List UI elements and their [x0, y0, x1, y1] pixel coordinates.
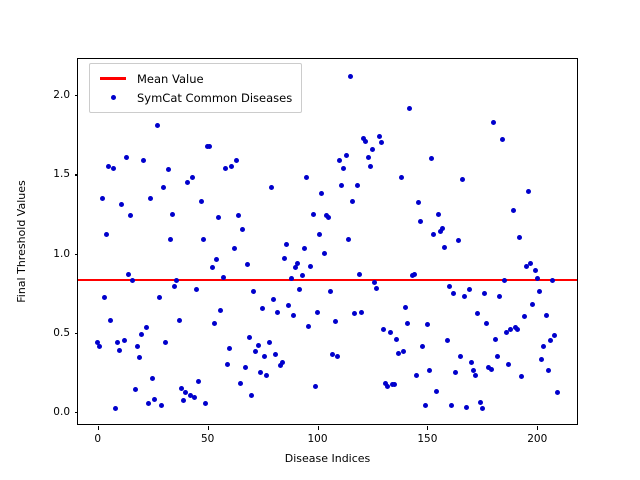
scatter-point [223, 166, 228, 171]
scatter-point [475, 311, 480, 316]
scatter-point [194, 287, 199, 292]
scatter-point [374, 286, 379, 291]
scatter-point [111, 166, 116, 171]
x-tick-label: 100 [307, 433, 327, 445]
scatter-point [177, 318, 182, 323]
scatter-point [267, 340, 272, 345]
scatter-point [533, 268, 538, 273]
scatter-point [451, 291, 456, 296]
scatter-point [363, 139, 368, 144]
scatter-point [148, 196, 153, 201]
scatter-point [199, 199, 204, 204]
scatter-point [161, 185, 166, 190]
y-tick-mark [75, 333, 79, 334]
scatter-point [122, 338, 127, 343]
scatter-point [152, 397, 157, 402]
x-tick-mark [318, 426, 319, 430]
scatter-point [317, 232, 322, 237]
scatter-point [366, 155, 371, 160]
scatter-point [216, 215, 221, 220]
scatter-point [493, 337, 498, 342]
scatter-point [407, 106, 412, 111]
scatter-point [372, 280, 377, 285]
scatter-point [394, 337, 399, 342]
scatter-point [232, 246, 237, 251]
scatter-point [420, 344, 425, 349]
scatter-point [282, 256, 287, 261]
scatter-point [423, 403, 428, 408]
scatter-point [249, 393, 254, 398]
scatter-point [280, 360, 285, 365]
y-tick-mark [75, 412, 79, 413]
scatter-point [392, 382, 397, 387]
scatter-point [429, 156, 434, 161]
scatter-point [333, 319, 338, 324]
scatter-point [418, 219, 423, 224]
scatter-point [247, 335, 252, 340]
y-tick-mark [75, 174, 79, 175]
scatter-point [357, 272, 362, 277]
plot-area: Mean Value SymCat Common Diseases 050100… [77, 58, 578, 425]
scatter-point [144, 325, 149, 330]
scatter-point [214, 257, 219, 262]
y-tick-mark [75, 95, 79, 96]
scatter-point [293, 265, 298, 270]
scatter-point [135, 344, 140, 349]
scatter-point [322, 251, 327, 256]
y-tick-label: 0.5 [53, 327, 70, 339]
scatter-point [157, 295, 162, 300]
scatter-point [115, 340, 120, 345]
scatter-point [355, 183, 360, 188]
scatter-point [196, 379, 201, 384]
scatter-point [139, 332, 144, 337]
scatter-point [221, 275, 226, 280]
scatter-point [256, 343, 261, 348]
scatter-point [326, 215, 331, 220]
scatter-point [271, 297, 276, 302]
scatter-point [275, 310, 280, 315]
scatter-point [207, 144, 212, 149]
scatter-point [464, 405, 469, 410]
legend-label-symcat: SymCat Common Diseases [137, 91, 292, 105]
legend-label-mean-value: Mean Value [137, 72, 204, 86]
scatter-point [500, 137, 505, 142]
scatter-point [401, 349, 406, 354]
scatter-point [539, 357, 544, 362]
scatter-point [243, 365, 248, 370]
scatter-point [212, 321, 217, 326]
scatter-point [469, 360, 474, 365]
scatter-point [460, 177, 465, 182]
x-tick-mark [208, 426, 209, 430]
scatter-point [210, 265, 215, 270]
scatter-point [258, 370, 263, 375]
scatter-point [128, 213, 133, 218]
x-tick-label: 150 [417, 433, 437, 445]
scatter-point [414, 373, 419, 378]
scatter-point [359, 310, 364, 315]
scatter-point [104, 232, 109, 237]
scatter-point [544, 313, 549, 318]
scatter-point [315, 310, 320, 315]
scatter-point [168, 237, 173, 242]
scatter-point [295, 261, 300, 266]
scatter-point [308, 264, 313, 269]
scatter-point [304, 175, 309, 180]
scatter-point [300, 273, 305, 278]
y-tick-label: 2.0 [53, 89, 70, 101]
x-tick-mark [427, 426, 428, 430]
legend-entry-mean-value: Mean Value [96, 69, 292, 88]
scatter-point [377, 134, 382, 139]
scatter-point [313, 384, 318, 389]
scatter-point [319, 191, 324, 196]
scatter-point [337, 158, 342, 163]
scatter-point [546, 368, 551, 373]
y-axis-label: Final Threshold Values [14, 58, 28, 425]
scatter-point [425, 322, 430, 327]
scatter-point [517, 235, 522, 240]
scatter-point [537, 289, 542, 294]
scatter-point [253, 349, 258, 354]
scatter-point [119, 202, 124, 207]
scatter-point [201, 237, 206, 242]
scatter-point [442, 245, 447, 250]
scatter-point [130, 278, 135, 283]
scatter-point [344, 153, 349, 158]
scatter-point [133, 387, 138, 392]
scatter-point [155, 123, 160, 128]
scatter-point [245, 262, 250, 267]
scatter-point [453, 370, 458, 375]
scatter-point [264, 373, 269, 378]
scatter-point [289, 276, 294, 281]
scatter-point [240, 227, 245, 232]
scatter-point [535, 276, 540, 281]
scatter-point [440, 226, 445, 231]
scatter-point [552, 333, 557, 338]
scatter-point [462, 294, 467, 299]
scatter-point [403, 305, 408, 310]
scatter-point [284, 242, 289, 247]
scatter-point [172, 284, 177, 289]
y-tick-label: 0.0 [53, 406, 70, 418]
scatter-point [473, 373, 478, 378]
scatter-point [260, 306, 265, 311]
scatter-point [102, 295, 107, 300]
scatter-point [174, 278, 179, 283]
x-tick-label: 200 [527, 433, 547, 445]
scatter-point [328, 289, 333, 294]
scatter-point [449, 403, 454, 408]
scatter-point [519, 374, 524, 379]
x-tick-mark [537, 426, 538, 430]
scatter-point [218, 308, 223, 313]
scatter-point [302, 246, 307, 251]
scatter-point [447, 284, 452, 289]
scatter-point [286, 303, 291, 308]
legend-entry-symcat: SymCat Common Diseases [96, 88, 292, 107]
scatter-point [146, 401, 151, 406]
scatter-point [528, 261, 533, 266]
scatter-point [436, 212, 441, 217]
scatter-point [480, 406, 485, 411]
scatter-point [251, 289, 256, 294]
scatter-point [350, 199, 355, 204]
scatter-point [137, 355, 142, 360]
scatter-point [368, 164, 373, 169]
scatter-point [341, 166, 346, 171]
scatter-point [530, 302, 535, 307]
scatter-point [522, 314, 527, 319]
scatter-point [458, 354, 463, 359]
y-tick-mark [75, 254, 79, 255]
scatter-point [113, 406, 118, 411]
scatter-point [412, 272, 417, 277]
scatter-point [445, 338, 450, 343]
scatter-point [306, 324, 311, 329]
scatter-point [163, 340, 168, 345]
scatter-point [227, 346, 232, 351]
scatter-point [269, 185, 274, 190]
scatter-point [434, 389, 439, 394]
scatter-point [431, 232, 436, 237]
scatter-point [190, 175, 195, 180]
scatter-point [388, 330, 393, 335]
scatter-point [370, 147, 375, 152]
scatter-point [550, 278, 555, 283]
scatter-point [478, 400, 483, 405]
scatter-point [489, 367, 494, 372]
scatter-point [97, 344, 102, 349]
scatter-point [236, 213, 241, 218]
scatter-point [491, 120, 496, 125]
scatter-point [297, 287, 302, 292]
scatter-point [273, 352, 278, 357]
scatter-point [339, 183, 344, 188]
scatter-point [484, 321, 489, 326]
scatter-point [262, 354, 267, 359]
scatter-point [352, 311, 357, 316]
scatter-point [335, 354, 340, 359]
scatter-point [405, 321, 410, 326]
scatter-point [348, 74, 353, 79]
scatter-point [497, 294, 502, 299]
scatter-point [502, 278, 507, 283]
scatter-point [166, 167, 171, 172]
scatter-point [399, 175, 404, 180]
scatter-point [526, 189, 531, 194]
x-axis-label: Disease Indices [77, 452, 578, 465]
scatter-point [100, 196, 105, 201]
scatter-point [427, 368, 432, 373]
y-tick-label: 1.0 [53, 248, 70, 260]
scatter-dot-swatch-icon [96, 95, 130, 100]
scatter-point [379, 140, 384, 145]
mean-line-swatch-icon [96, 77, 130, 79]
scatter-point [482, 291, 487, 296]
x-tick-label: 0 [94, 433, 101, 445]
scatter-point [311, 212, 316, 217]
scatter-point [108, 318, 113, 323]
scatter-point [555, 390, 560, 395]
scatter-point [117, 348, 122, 353]
y-axis-label-text: Final Threshold Values [15, 180, 28, 303]
x-tick-mark [98, 426, 99, 430]
scatter-point [126, 272, 131, 277]
scatter-points-layer [78, 59, 577, 424]
scatter-point [416, 200, 421, 205]
chart-legend: Mean Value SymCat Common Diseases [89, 63, 302, 113]
scatter-chart-figure: Final Threshold Values Mean Value SymCat… [0, 0, 640, 480]
scatter-point [170, 212, 175, 217]
scatter-point [467, 287, 472, 292]
scatter-point [495, 354, 500, 359]
scatter-point [185, 180, 190, 185]
scatter-point [541, 344, 546, 349]
scatter-point [456, 238, 461, 243]
scatter-point [548, 338, 553, 343]
scatter-point [203, 401, 208, 406]
scatter-point [159, 403, 164, 408]
scatter-point [511, 208, 516, 213]
scatter-point [141, 158, 146, 163]
scatter-point [124, 155, 129, 160]
scatter-point [238, 381, 243, 386]
scatter-point [515, 327, 520, 332]
y-tick-label: 1.5 [53, 168, 70, 180]
scatter-point [192, 395, 197, 400]
scatter-point [346, 237, 351, 242]
scatter-point [225, 362, 230, 367]
scatter-point [506, 362, 511, 367]
scatter-point [150, 376, 155, 381]
scatter-point [234, 158, 239, 163]
scatter-point [181, 398, 186, 403]
scatter-point [381, 327, 386, 332]
scatter-point [291, 313, 296, 318]
x-tick-label: 50 [201, 433, 214, 445]
scatter-point [229, 164, 234, 169]
